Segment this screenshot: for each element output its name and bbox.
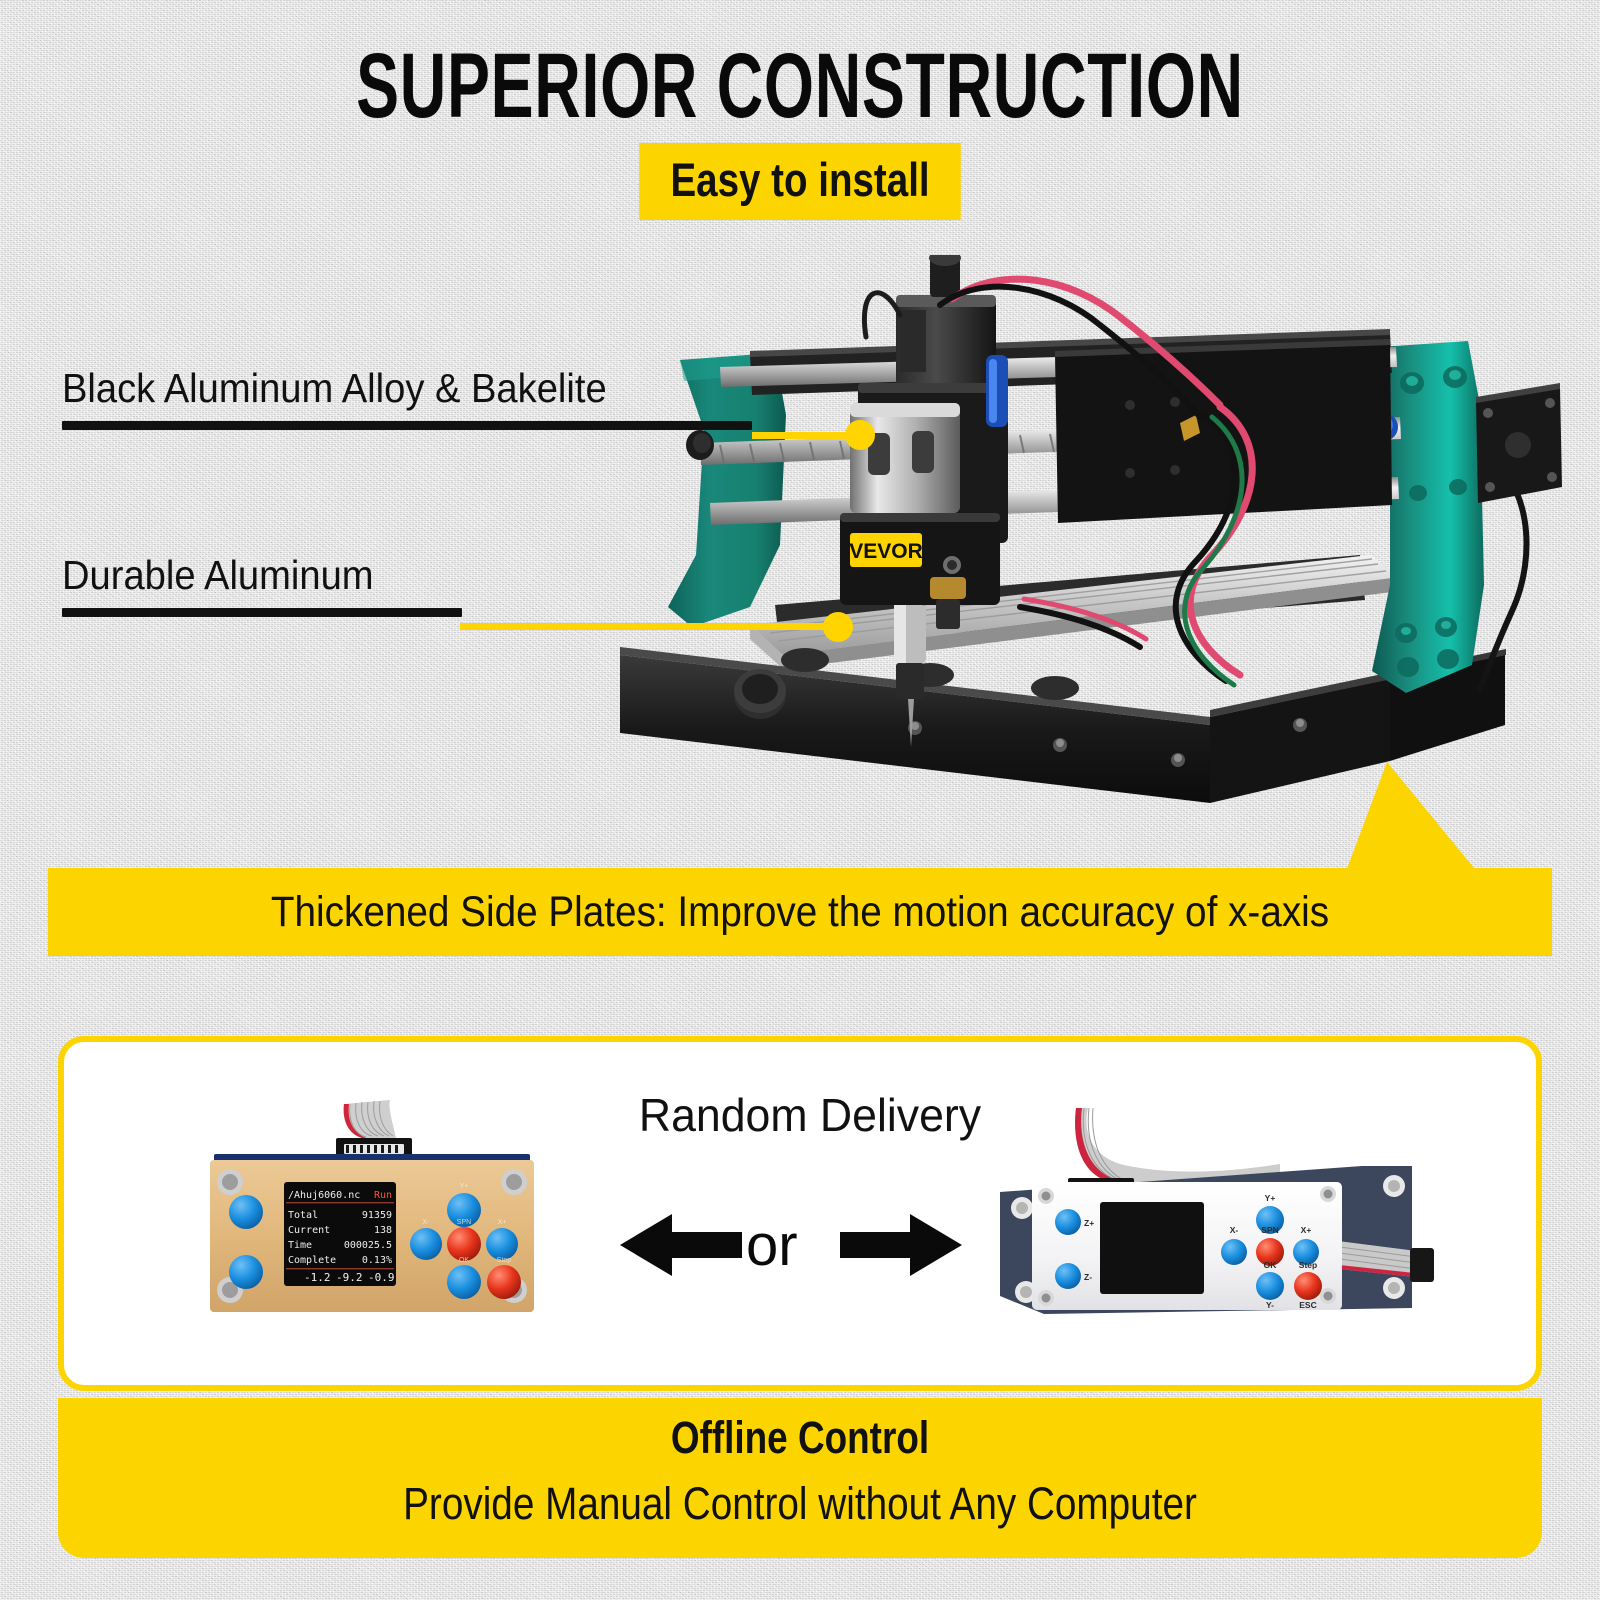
lcd-coord-x: -1.2 [304,1271,331,1284]
svg-text:Step: Step [497,1257,512,1264]
label-x-minus: X- [1230,1225,1239,1235]
controller-lcd-right [1100,1202,1204,1294]
random-delivery-heading: Random Delivery [606,1088,1013,1142]
btn-step[interactable] [1294,1272,1322,1300]
or-label: or [746,1212,798,1279]
lcd-row1-value: 138 [374,1225,392,1236]
label-x-plus: X+ [1301,1225,1312,1235]
cnc-machine-illustration: VEVOR [600,255,1600,835]
callout-aluminum-label: Durable Aluminum [62,552,434,599]
callout-bakelite-leader [752,432,856,439]
ribbon-cable-left [344,1100,396,1138]
offline-controller-right[interactable]: Z+ Z- Y+ X- SPN X+ OK Step Y- ESC [980,1100,1440,1325]
lcd-status: Run [374,1190,392,1201]
callout-aluminum-dot [823,612,853,642]
callout-bakelite-dot [845,420,875,450]
callout-aluminum: Durable Aluminum [62,552,462,617]
offline-control-footer: Offline Control Provide Manual Control w… [58,1398,1542,1558]
lcd-row2-value: 000025.5 [344,1240,392,1251]
arrow-left-icon [620,1212,742,1283]
svg-text:SPN: SPN [457,1219,471,1226]
arrow-right-icon [840,1212,962,1283]
svg-text:X+: X+ [498,1219,507,1226]
label-ok: OK [1264,1260,1278,1270]
btn-x-minus[interactable] [1221,1239,1247,1265]
lcd-coord-z: -0.9 [368,1271,395,1284]
side-plates-banner: Thickened Side Plates: Improve the motio… [48,868,1552,956]
page-title: SUPERIOR CONSTRUCTION [240,38,1360,135]
svg-text:OK: OK [459,1257,469,1264]
lcd-row1-key: Current [288,1225,330,1236]
lcd-row0-key: Total [288,1210,318,1221]
callout-bakelite-label: Black Aluminum Alloy & Bakelite [62,365,704,412]
btn-z-plus[interactable] [1055,1209,1081,1235]
callout-aluminum-rule [62,608,462,617]
vevor-brand-label: VEVOR [849,540,923,563]
side-plates-banner-text: Thickened Side Plates: Improve the motio… [123,868,1477,956]
footer-heading: Offline Control [192,1412,1409,1464]
callout-aluminum-leader [460,623,838,630]
btn-esc[interactable] [487,1265,521,1299]
btn-center[interactable] [447,1227,481,1261]
label-y-plus: Y+ [1265,1193,1276,1203]
lcd-row3-key: Complete [288,1255,336,1266]
subtitle-container: Easy to install [0,143,1600,220]
btn-left-top[interactable] [229,1195,263,1229]
lcd-row0-value: 91359 [362,1210,392,1221]
lcd-row3-value: 0.13% [362,1255,392,1266]
stepper-motor-right [1476,383,1562,503]
label-z-plus: Z+ [1084,1218,1094,1228]
btn-east[interactable] [486,1228,518,1260]
label-z-minus: Z- [1084,1272,1092,1282]
subtitle-badge: Easy to install [639,143,960,220]
label-spn: SPN [1261,1225,1278,1235]
controller-lcd-left: /Ahuj6060.nc Run Total 91359 Current 138… [284,1182,396,1286]
offline-controller-left[interactable]: /Ahuj6060.nc Run Total 91359 Current 138… [196,1100,546,1325]
label-step: Step [1299,1260,1317,1270]
btn-down[interactable] [447,1265,481,1299]
svg-text:X-: X- [423,1219,431,1226]
btn-z-minus[interactable] [1055,1263,1081,1289]
btn-west[interactable] [410,1228,442,1260]
callout-bakelite: Black Aluminum Alloy & Bakelite [62,365,752,430]
btn-ok[interactable] [1256,1272,1284,1300]
label-y-minus: Y- [1266,1300,1274,1310]
callout-bakelite-rule [62,421,752,430]
btn-left-bottom[interactable] [229,1255,263,1289]
svg-text:Y+: Y+ [460,1183,469,1190]
lcd-coord-y: -9.2 [336,1271,363,1284]
footer-subtext: Provide Manual Control without Any Compu… [162,1478,1438,1530]
gantry-assembly [686,329,1401,525]
lcd-filename: /Ahuj6060.nc [288,1190,360,1201]
lcd-row2-key: Time [288,1240,312,1251]
banner-callout-pointer [1345,762,1479,874]
label-esc: ESC [1299,1300,1316,1310]
